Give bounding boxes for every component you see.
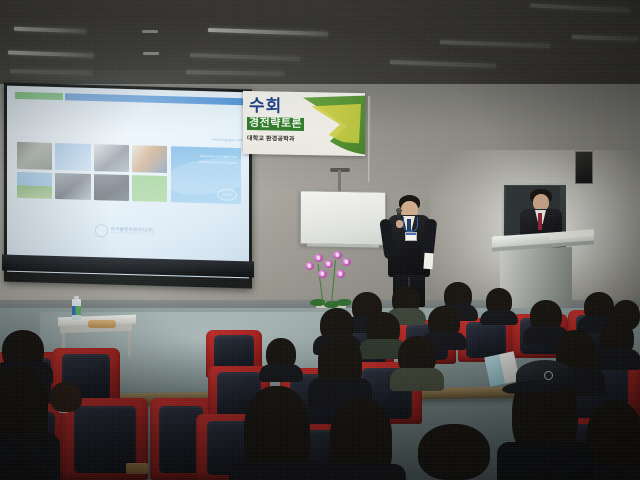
audience-head: [330, 398, 392, 480]
handout-paper: [423, 253, 433, 270]
slide-brand-mark: KAPEC: [217, 188, 237, 201]
slide-tagline-panel: Delivering Your Value First Meeting With…: [171, 146, 241, 204]
orchid-blossom: [314, 254, 323, 262]
audience-head: [266, 338, 296, 370]
cap-logo-icon: [544, 371, 553, 380]
slide-thumbnail: [94, 174, 129, 201]
company-logo-icon: [95, 224, 108, 237]
slide-thumbnail: [55, 143, 90, 170]
audience-head: [0, 366, 48, 450]
audience-head: [50, 382, 82, 412]
banner-title-line1: 수회: [249, 97, 282, 115]
slide-footer-logo: 한국플랜트레이디(주) KOREA THERMOSTATION CO., LTD: [7, 222, 243, 242]
slide-thumbnail: [132, 145, 167, 172]
shoulders: [259, 364, 302, 383]
orchid-blossom: [336, 270, 345, 278]
slide-thumbnail-grid: [17, 142, 167, 202]
ceiling: [0, 0, 640, 96]
audience-head: [530, 300, 562, 332]
orchid-blossom: [324, 260, 333, 268]
whiteboard-mount-post: [338, 170, 341, 192]
orchid-blossom: [342, 258, 351, 266]
table-leg: [128, 331, 131, 357]
slide-company-subtitle: KOREA THERMOSTATION CO., LTD: [111, 232, 155, 236]
lanyard: [403, 217, 418, 232]
ceiling-vent: [143, 52, 159, 55]
whiteboard: [300, 190, 386, 246]
ceiling-light-fixture: [14, 27, 86, 34]
audience-head: [366, 312, 400, 346]
ceiling-light-fixture: [530, 3, 630, 12]
slide-url-text: www.kagegas.com: [7, 132, 243, 143]
baseball-cap-icon: [516, 360, 574, 402]
shoulders: [497, 442, 592, 480]
audience-head: [398, 336, 436, 376]
name-badge: [405, 232, 417, 241]
ceiling-light-fixture: [572, 35, 638, 41]
audience-head: [600, 320, 634, 356]
banner-support-pole: [368, 96, 371, 182]
audience-head: [244, 386, 310, 480]
bottle-cap: [74, 296, 79, 299]
shoulders: [390, 368, 445, 391]
orchid-blossom: [333, 251, 342, 259]
necktie: [538, 213, 542, 230]
ceiling-light-fixture: [190, 53, 300, 61]
shoulders: [0, 433, 60, 480]
orchid-blossom: [305, 262, 314, 270]
slide-thumbnail: [55, 172, 90, 199]
slide-thumbnail: [17, 171, 52, 198]
shoulders: [316, 464, 405, 480]
head: [50, 382, 82, 412]
banner-title-line2: 경전략토론: [247, 117, 304, 131]
ceiling-light-fixture: [10, 69, 92, 74]
audience-head: [392, 286, 420, 314]
event-banner: 수회 경전략토론 대학교 환경공학과: [243, 91, 365, 156]
ceiling-light-fixture: [390, 60, 496, 68]
projected-slide: www.kagegas.com Delivering Your Value Fi…: [7, 86, 249, 279]
banner-swoosh-yellow: [311, 102, 361, 145]
slide-accent-bar-blue: [65, 93, 243, 105]
ceiling-light-fixture: [8, 51, 94, 58]
shoulders: [229, 461, 324, 480]
seat-armrest: [126, 463, 148, 474]
slide-thumbnail: [132, 175, 167, 202]
audience-head: [318, 336, 362, 388]
badge-header-stripe: [406, 233, 416, 235]
snack-tray: [88, 320, 116, 328]
shoulders: [593, 349, 640, 370]
hand-holding-microphone: [396, 220, 403, 228]
slide-brand-mark-label: KAPEC: [218, 190, 236, 201]
ceiling-vent: [142, 30, 158, 33]
audience-head: [418, 424, 490, 480]
head: [418, 424, 490, 480]
shoulders: [480, 310, 517, 326]
slide-thumbnail: [94, 144, 129, 171]
orchid-blossom: [318, 270, 327, 278]
ceiling-light-fixture: [208, 28, 328, 36]
ceiling-light-fixture: [186, 70, 284, 76]
slide-thumbnail: [17, 142, 52, 169]
wall-speaker-icon: [575, 151, 593, 184]
water-bottle: [72, 296, 81, 320]
audience-head: [428, 306, 460, 338]
lecture-hall-photo: www.kagegas.com Delivering Your Value Fi…: [0, 0, 640, 480]
slide-accent-bar-green: [15, 92, 63, 100]
bottle-label: [72, 306, 81, 315]
ceiling-light-fixture: [440, 40, 550, 48]
audience-head: [2, 330, 44, 370]
audience-head: [586, 400, 640, 480]
audience-head: [584, 292, 614, 322]
banner-subtitle: 대학교 환경공학과: [247, 133, 295, 143]
audience-head: [486, 288, 512, 315]
